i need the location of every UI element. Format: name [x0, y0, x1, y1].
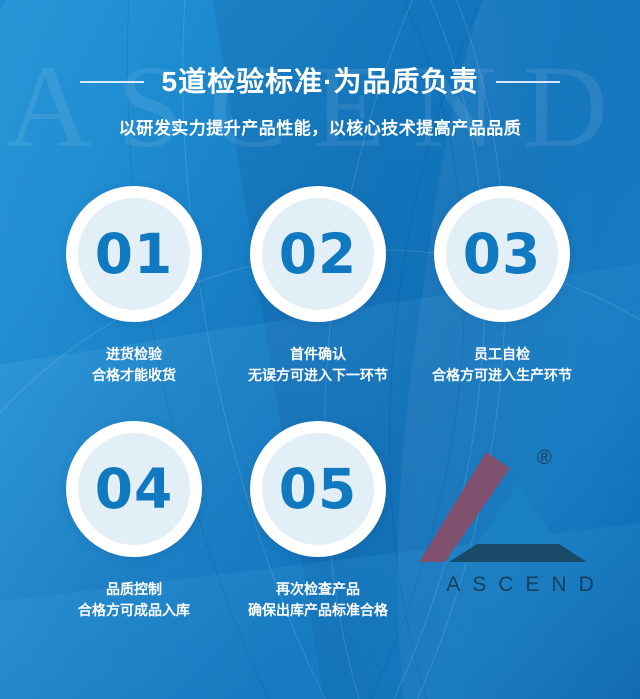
step-circle-04: 04 [66, 421, 202, 557]
page-subtitle: 以研发实力提升产品性能，以核心技术提高产品品质 [0, 114, 640, 139]
step-item-01[interactable]: 01 进货检验 合格才能收货 [42, 186, 226, 386]
step-circle-inner-05: 05 [262, 433, 374, 545]
step-number-02: 02 [279, 227, 358, 282]
ascend-logo-mark-icon [413, 440, 627, 575]
step-caption-line2-02: 无误方可进入下一环节 [248, 365, 388, 386]
step-caption-line1-01: 进货检验 [92, 344, 176, 365]
step-circle-inner-04: 04 [78, 433, 190, 545]
step-circle-02: 02 [250, 186, 386, 322]
step-circle-05: 05 [250, 421, 386, 557]
step-caption-line2-03: 合格方可进入生产环节 [432, 365, 572, 386]
step-circle-01: 01 [66, 186, 202, 322]
step-caption-line1-02: 首件确认 [248, 344, 388, 365]
header: 5道检验标准·为品质负责 以研发实力提升产品性能，以核心技术提高产品品质 [0, 62, 640, 139]
step-number-01: 01 [95, 227, 174, 282]
step-caption-05: 再次检查产品 确保出库产品标准合格 [248, 579, 388, 621]
step-caption-line1-04: 品质控制 [78, 579, 190, 600]
step-caption-04: 品质控制 合格方可成品入库 [78, 579, 190, 621]
step-circle-inner-03: 03 [446, 198, 558, 310]
step-circle-03: 03 [434, 186, 570, 322]
step-caption-03: 员工自检 合格方可进入生产环节 [432, 344, 572, 386]
steps-row-top: 01 进货检验 合格才能收货 02 首件确认 无误方可进入下一环节 [0, 186, 640, 386]
title-rule-right-icon [496, 81, 560, 83]
step-caption-01: 进货检验 合格才能收货 [92, 344, 176, 386]
registered-trademark-icon: ® [537, 448, 552, 468]
step-number-04: 04 [95, 462, 174, 517]
logo-wordmark: ASCEND [415, 573, 625, 597]
page-title: 5道检验标准·为品质负责 [162, 62, 479, 102]
step-item-04[interactable]: 04 品质控制 合格方可成品入库 [42, 421, 226, 621]
title-row: 5道检验标准·为品质负责 [0, 62, 640, 102]
step-caption-line1-03: 员工自检 [432, 344, 572, 365]
logo-navy-base-icon [449, 544, 587, 562]
step-caption-line1-05: 再次检查产品 [248, 579, 388, 600]
ascend-logo: ® ASCEND [413, 440, 627, 605]
step-circle-inner-01: 01 [78, 198, 190, 310]
step-item-03[interactable]: 03 员工自检 合格方可进入生产环节 [410, 186, 594, 386]
step-caption-line2-05: 确保出库产品标准合格 [248, 600, 388, 621]
step-caption-02: 首件确认 无误方可进入下一环节 [248, 344, 388, 386]
promo-poster: ASCEND 5道检验标准·为品质负责 以研发实力提升产品性能，以核心技术提高产… [0, 0, 640, 699]
step-caption-line2-01: 合格才能收货 [92, 365, 176, 386]
step-circle-inner-02: 02 [262, 198, 374, 310]
step-item-05[interactable]: 05 再次检查产品 确保出库产品标准合格 [226, 421, 410, 621]
step-number-03: 03 [463, 227, 542, 282]
step-number-05: 05 [279, 462, 358, 517]
step-item-02[interactable]: 02 首件确认 无误方可进入下一环节 [226, 186, 410, 386]
title-rule-left-icon [80, 81, 144, 83]
step-caption-line2-04: 合格方可成品入库 [78, 600, 190, 621]
